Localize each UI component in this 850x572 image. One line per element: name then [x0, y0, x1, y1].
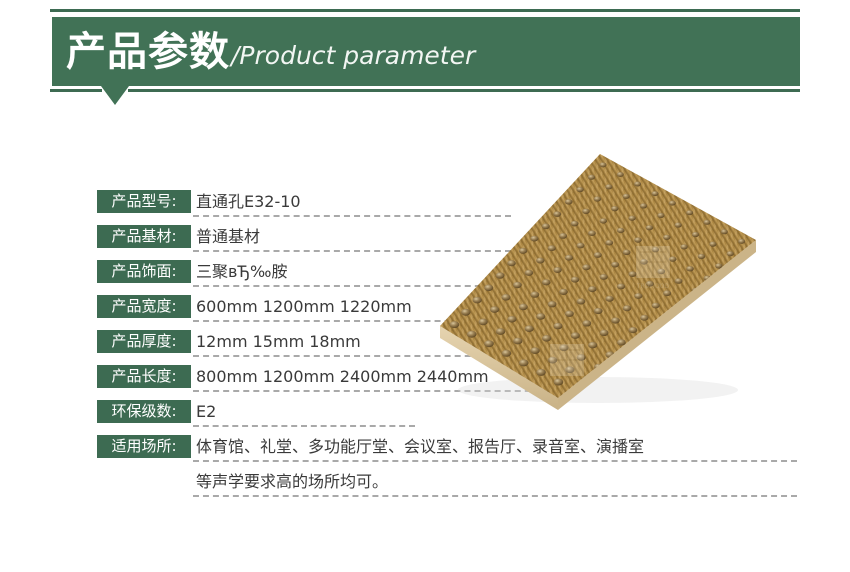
- product-photo-perforated-panel: TRUWOOD: [430, 148, 760, 410]
- param-value: E2: [196, 400, 216, 423]
- param-label: 环保级数:: [97, 400, 191, 423]
- param-dashed-rule: [193, 460, 797, 462]
- header-arrow-pointer: [101, 86, 129, 105]
- param-label: 适用场所:: [97, 435, 191, 458]
- svg-text:TRUWOOD: TRUWOOD: [636, 283, 670, 290]
- param-label: 产品长度:: [97, 365, 191, 388]
- param-row-continuation: 等声学要求高的场所均可。: [97, 470, 717, 505]
- acoustic-panel-illustration: TRUWOOD: [430, 148, 760, 410]
- header-rule-top: [50, 9, 800, 12]
- watermark-lower: [550, 344, 584, 376]
- param-label: 产品饰面:: [97, 260, 191, 283]
- header-rule-bottom-right: [128, 89, 800, 92]
- param-dashed-rule: [193, 425, 415, 427]
- param-value: 体育馆、礼堂、多功能厅堂、会议室、报告厅、录音室、演播室: [196, 435, 644, 458]
- param-row: 适用场所:体育馆、礼堂、多功能厅堂、会议室、报告厅、录音室、演播室: [97, 435, 717, 470]
- param-label: 产品厚度:: [97, 330, 191, 353]
- watermark-upper: TRUWOOD: [636, 246, 670, 290]
- param-value: 三聚вЂ‰胺: [196, 260, 287, 283]
- param-value: 600mm 1200mm 1220mm: [196, 295, 412, 318]
- param-value: 普通基材: [196, 225, 260, 248]
- page-title-cn: 产品参数: [66, 32, 230, 72]
- param-value: 直通孔E32-10: [196, 190, 301, 213]
- header-title-group: 产品参数 /Product parameter: [66, 19, 475, 85]
- header-rule-bottom-left: [50, 89, 102, 92]
- param-label: 产品基材:: [97, 225, 191, 248]
- page-header-banner: 产品参数 /Product parameter: [0, 0, 850, 120]
- page-title-en: /Product parameter: [231, 43, 475, 68]
- param-dashed-rule: [193, 495, 797, 497]
- panel-shadow: [458, 377, 738, 403]
- param-value: 12mm 15mm 18mm: [196, 330, 361, 353]
- param-label: 产品宽度:: [97, 295, 191, 318]
- param-label: 产品型号:: [97, 190, 191, 213]
- param-value-continuation: 等声学要求高的场所均可。: [196, 470, 388, 493]
